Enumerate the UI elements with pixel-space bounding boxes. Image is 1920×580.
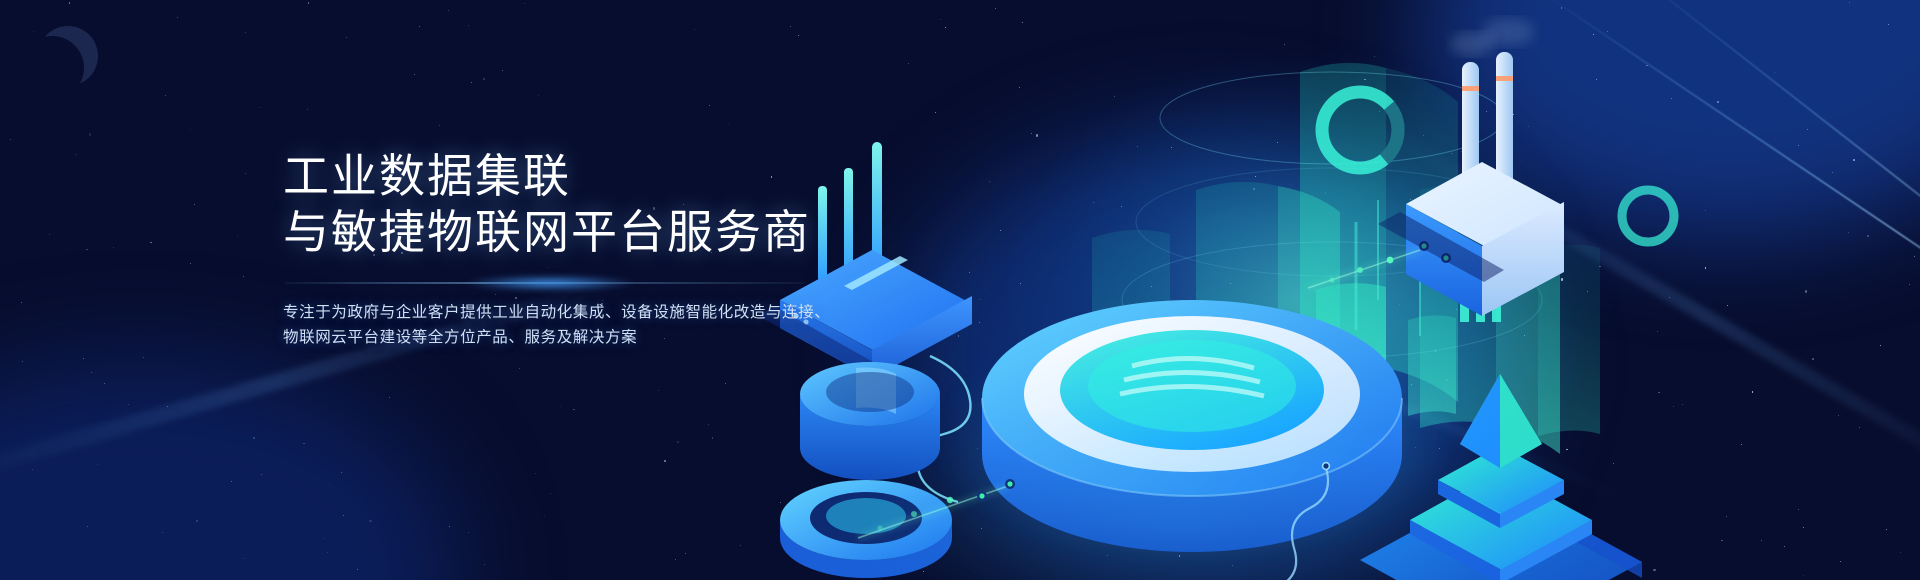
headline-line-2: 与敏捷物联网平台服务商 (283, 204, 923, 260)
headline-divider (285, 282, 805, 284)
hero-copy: 工业数据集联 与敏捷物联网平台服务商 专注于为政府与企业客户提供工业自动化集成、… (283, 148, 923, 350)
hero-banner: 工业数据集联 与敏捷物联网平台服务商 专注于为政府与企业客户提供工业自动化集成、… (0, 0, 1920, 580)
illustration (760, 0, 1920, 580)
subtitle-line-2: 物联网云平台建设等全方位产品、服务及解决方案 (283, 325, 923, 350)
ring-gauge-hologram-secondary (1622, 190, 1674, 242)
headline-line-1: 工业数据集联 (283, 148, 923, 204)
subtitle-line-1: 专注于为政府与企业客户提供工业自动化集成、设备设施智能化改造与连接、 (283, 300, 923, 325)
